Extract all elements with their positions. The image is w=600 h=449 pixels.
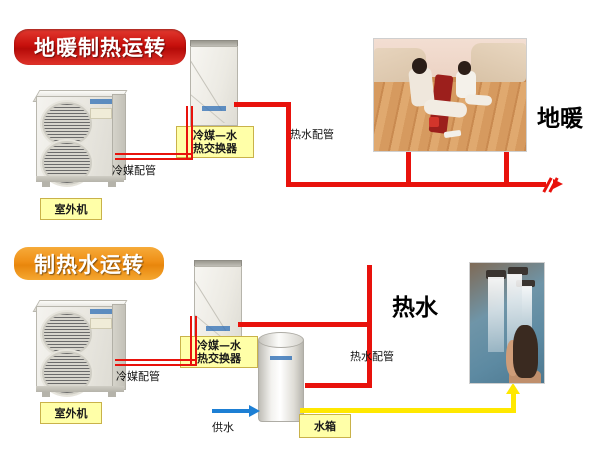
brand-logo [202,106,226,111]
fan-grille-icon [42,102,92,146]
label-refrigerant-pipe-1: 冷媒配管 [112,162,156,178]
tank-top [258,332,304,348]
photo-floor-heating [373,38,527,152]
photo-toy [429,117,440,127]
outdoor-unit-foot [42,182,50,187]
water-supply-line [212,409,250,413]
refrigerant-pipe-horizontal-1 [115,153,193,160]
refrigerant-pipe-horizontal-2 [115,359,197,366]
arrow-up-icon [506,383,520,394]
photo-adult-head [412,58,427,74]
floor-heating-riser-right [504,150,509,184]
outdoor-unit-2 [28,296,132,400]
unit-panel-lines [191,47,235,123]
label-target-hot-water: 热水 [392,288,438,322]
photo-shower [469,262,545,384]
banner-floor-heating: 地暖制热运转 [14,29,186,65]
unit-badge [90,318,112,329]
tank-outlet-riser [511,392,516,413]
label-refrigerant-pipe-2: 冷媒配管 [116,368,160,384]
hot-water-pipe-riser-1 [286,102,291,186]
banner-hot-water: 制热水运转 [14,247,164,280]
tank-outlet-pipe [300,408,516,413]
photo-child-head [458,61,472,74]
brand-logo [270,356,292,360]
brand-logo [90,99,112,104]
tank-body [258,338,304,422]
brand-logo [90,309,112,314]
floor-heating-riser-left [406,150,411,184]
photo-sofa-right [471,43,526,81]
outdoor-unit-foot [108,182,116,187]
label-hot-water-pipe-1: 热水配管 [290,126,334,142]
outdoor-unit-foot [42,392,50,397]
hot-water-pipe-top-1 [234,102,290,107]
photo-water-stream [488,277,504,351]
outdoor-unit-foot [108,392,116,397]
diagram-canvas: 地暖制热运转 室外机 冷媒—水 热交换器 冷媒配管 热水配管 [0,0,600,449]
label-water-supply: 供水 [212,419,234,435]
photo-child-legs [465,94,493,106]
unit-panel-lines [195,267,239,343]
hot-water-pipe-top-2 [238,322,372,327]
refrigerant-pipe-vertical-1 [186,106,193,160]
label-outdoor-unit-2: 室外机 [40,402,102,424]
unit-badge [90,108,112,119]
hot-water-pipe-to-tank [305,383,372,388]
photo-person-hair [513,325,538,378]
label-outdoor-unit-1: 室外机 [40,198,102,220]
heat-exchanger-unit-1 [190,40,236,126]
label-target-floor-heating: 地暖 [537,99,583,133]
fan-grille-icon [42,312,92,356]
label-water-tank: 水箱 [299,414,351,438]
arrow-right-icon [553,179,563,189]
arrow-right-icon [249,405,260,417]
heat-exchanger-unit-2 [194,260,240,346]
water-tank [258,330,304,424]
label-hot-water-pipe-2: 热水配管 [350,348,394,364]
hot-water-pipe-riser-2 [367,265,372,327]
brand-logo [206,326,230,331]
